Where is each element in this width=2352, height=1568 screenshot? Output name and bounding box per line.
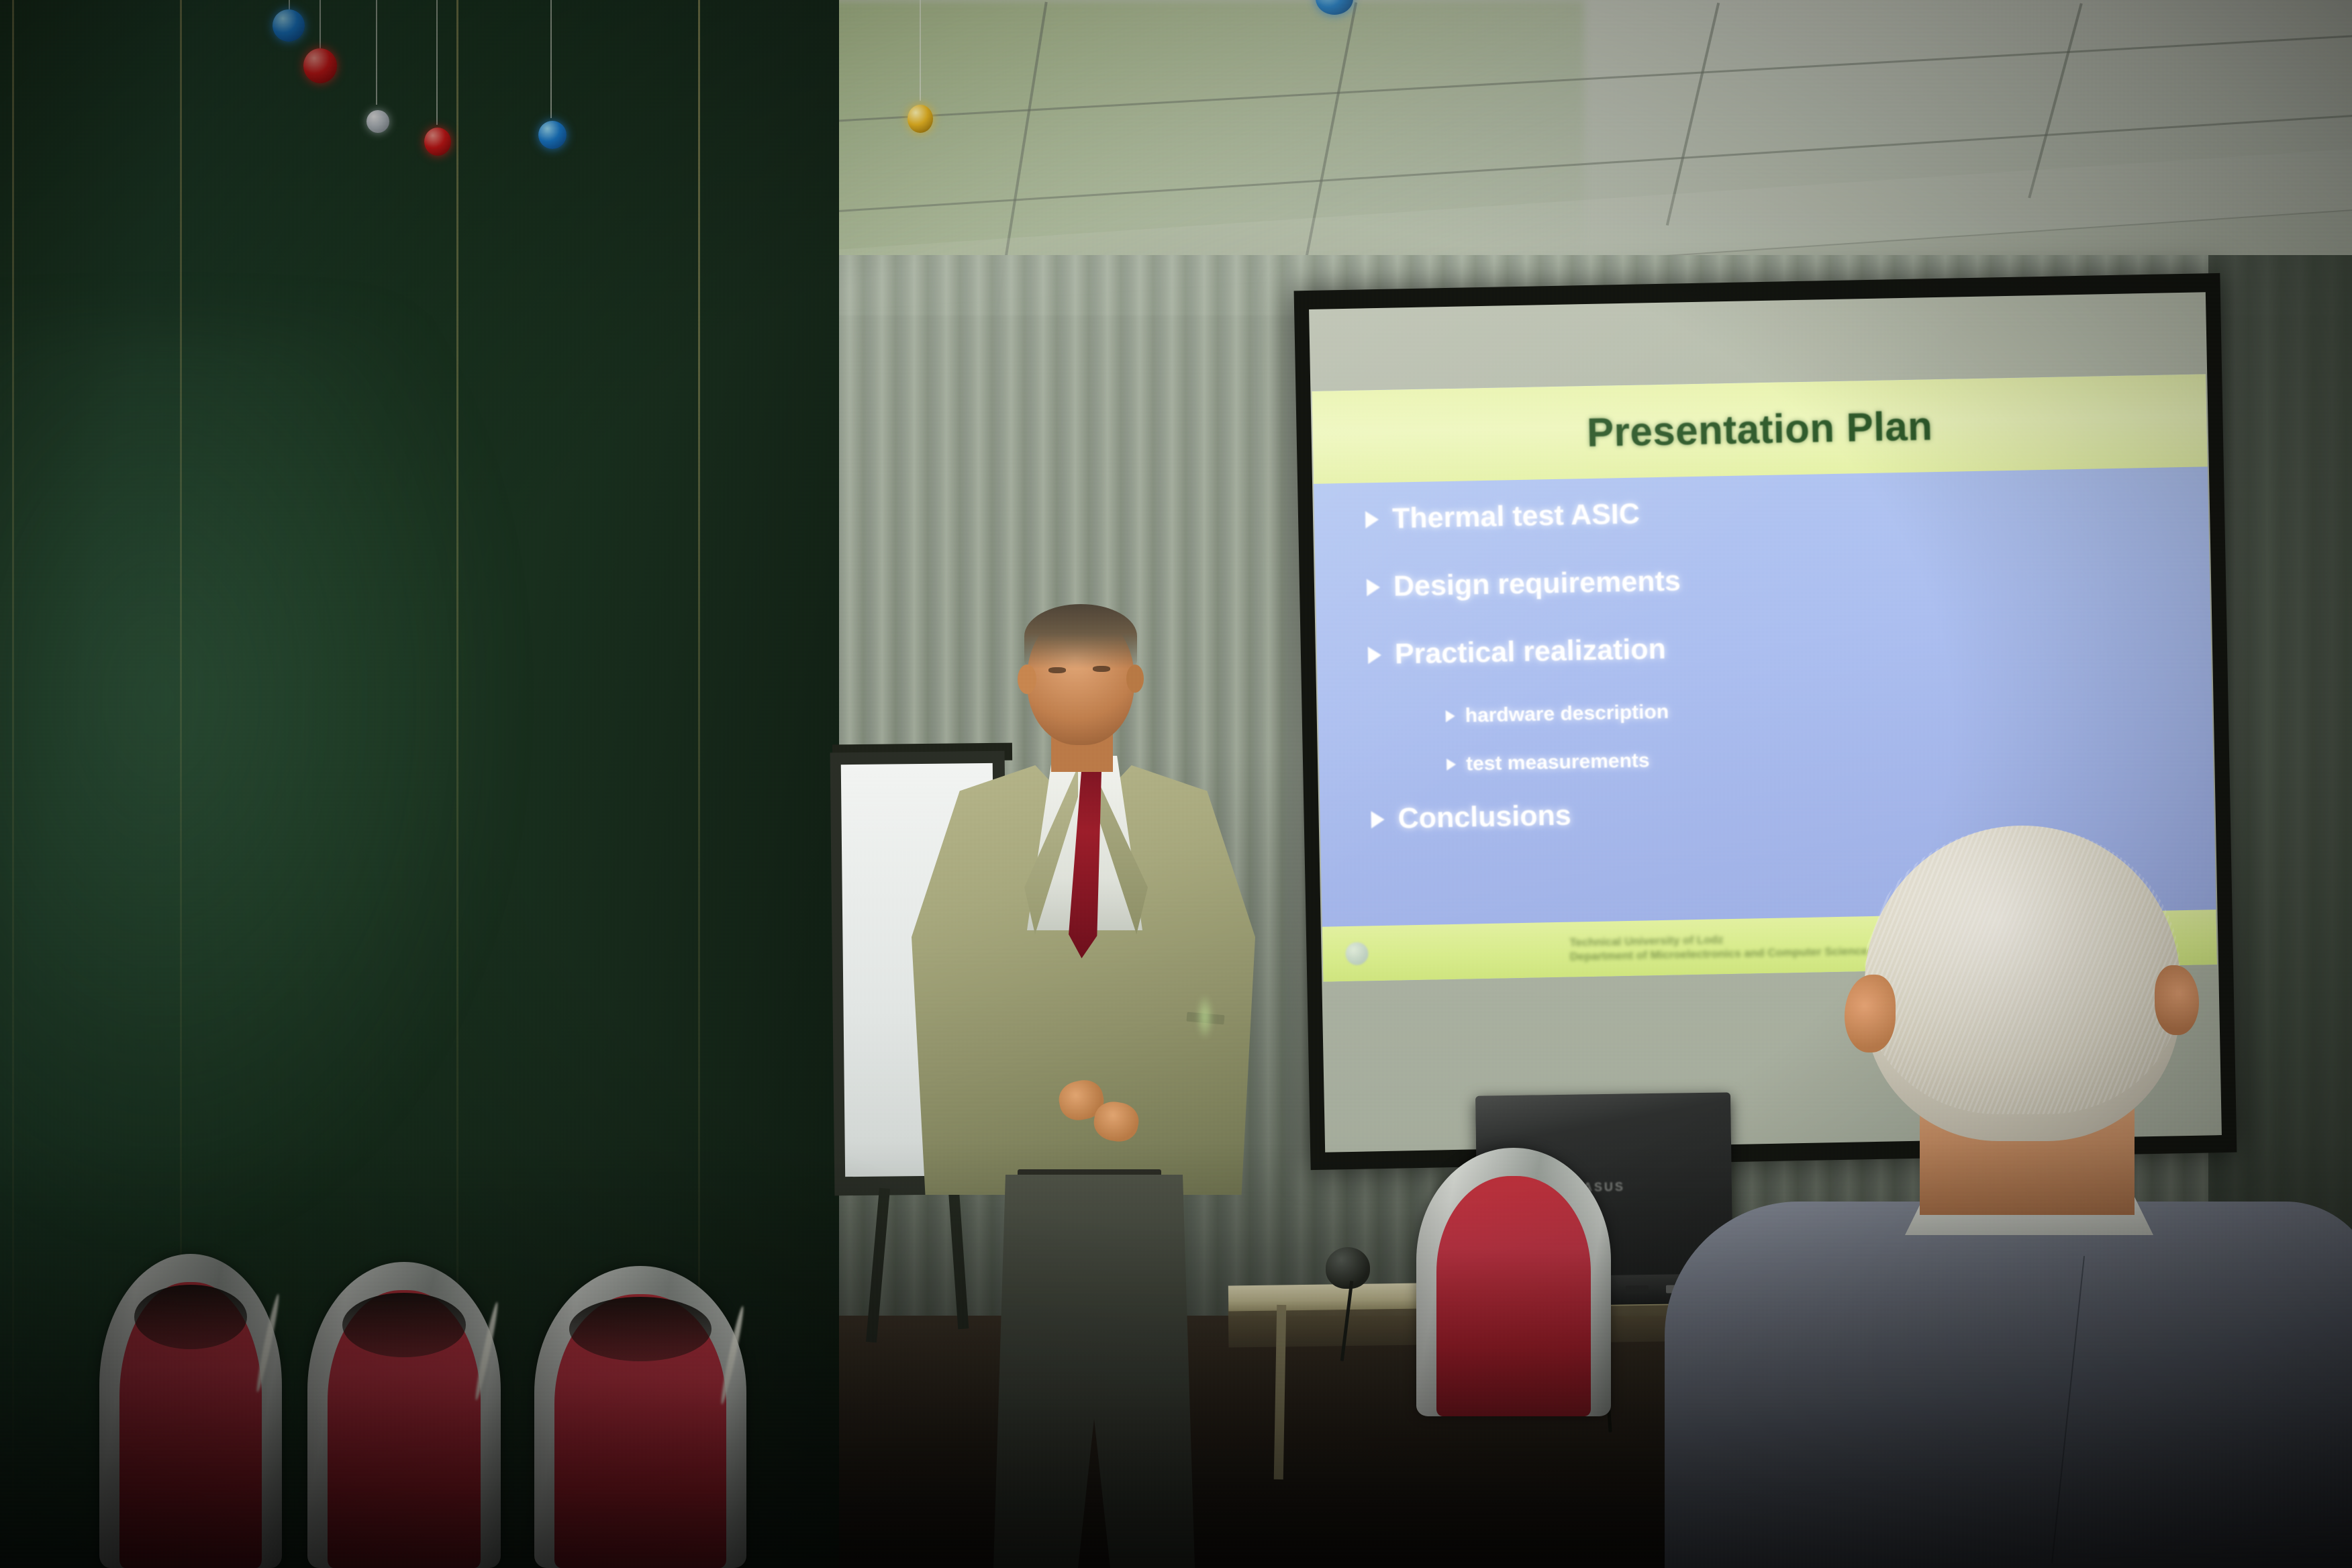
attendee-ear-left	[1845, 975, 1896, 1052]
microphone-head	[1326, 1247, 1370, 1289]
presenter-eye-right	[1093, 666, 1110, 672]
bullet-text: Practical realization	[1395, 633, 1667, 671]
ornament-string	[376, 0, 377, 105]
bullet-arrow-icon	[1365, 511, 1379, 528]
presenter-trousers	[993, 1175, 1195, 1568]
chair-cushion	[1436, 1176, 1591, 1416]
attendee-ear-right	[2155, 965, 2199, 1035]
slide-title-band: Presentation Plan	[1312, 374, 2207, 484]
slide-bullet: Design requirements	[1367, 556, 2147, 603]
presenter	[893, 597, 1269, 1568]
chair-1	[99, 1254, 282, 1568]
slide-bullet: Practical realization	[1368, 624, 2149, 671]
bullet-text: Conclusions	[1398, 799, 1571, 836]
slide-bullet-list: Thermal test ASIC Design requirements Pr…	[1353, 488, 2152, 871]
chair-behind-table	[1416, 1148, 1611, 1416]
slide-title: Presentation Plan	[1586, 403, 1933, 456]
bullet-arrow-icon	[1367, 578, 1380, 595]
ornament-string	[920, 0, 921, 101]
photo-scene: Presentation Plan Thermal test ASIC Desi…	[0, 0, 2352, 1568]
bullet-arrow-icon	[1446, 710, 1455, 722]
presenter-hair	[1024, 604, 1137, 669]
ornament-blue-1	[273, 9, 305, 42]
slide-sub-bullet: hardware description	[1445, 691, 2149, 728]
ornament-blue-2	[538, 121, 567, 149]
slide-sub-bullet: test measurements	[1447, 740, 2150, 776]
ornament-string	[320, 0, 321, 51]
chair-2	[307, 1262, 501, 1568]
bullet-arrow-icon	[1368, 646, 1381, 663]
audience-member	[1692, 826, 2352, 1568]
ornament-gold-1	[908, 105, 933, 133]
laptop-port-usb	[1626, 1285, 1649, 1293]
chair-back-gap	[569, 1297, 712, 1361]
chair-back-gap	[134, 1285, 247, 1349]
attendee-jacket	[1665, 1202, 2352, 1568]
ornament-silver-1	[366, 110, 389, 133]
attendee-hair	[1865, 826, 2180, 1114]
ornament-red-2	[424, 128, 451, 156]
presenter-ear-right	[1126, 665, 1144, 693]
bullet-text: Design requirements	[1393, 565, 1681, 603]
ornament-string	[550, 0, 552, 118]
bullet-text: test measurements	[1466, 749, 1650, 775]
chair-3	[534, 1266, 746, 1568]
presenter-ear-left	[1018, 665, 1036, 694]
chair-back-gap	[342, 1293, 466, 1357]
presenter-light-reflection	[1196, 993, 1214, 1040]
bullet-arrow-icon	[1371, 810, 1384, 828]
wall-light-glow	[0, 322, 524, 1262]
ornament-red-1	[303, 48, 337, 83]
bullet-text: Thermal test ASIC	[1392, 498, 1640, 536]
slide-bullet: Thermal test ASIC	[1365, 488, 2146, 536]
presenter-eye-left	[1048, 667, 1066, 673]
institution-logo-icon	[1345, 942, 1369, 965]
bullet-arrow-icon	[1447, 758, 1456, 771]
ornament-string	[436, 0, 438, 125]
bullet-text: hardware description	[1465, 701, 1669, 728]
